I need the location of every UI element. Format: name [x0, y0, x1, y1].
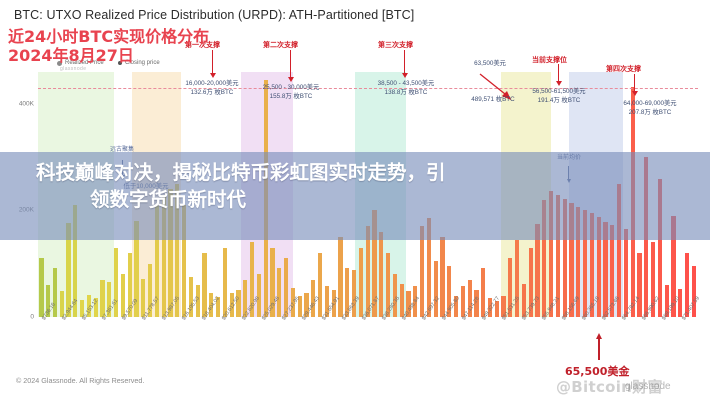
bar — [39, 258, 43, 317]
y-axis-tick-label: 0 — [30, 314, 34, 321]
annotation-arrow-icon — [404, 50, 405, 74]
overlay-headline-line1: 近24小时BTC实现价格分布 — [8, 27, 209, 46]
annotation-body: 64,000-69,000美元207.8万 枚BTC — [594, 100, 706, 117]
annotation-arrow-icon — [290, 50, 291, 78]
annotation-amount: 155.8万 枚BTC — [230, 93, 352, 102]
bar — [338, 237, 342, 317]
overlay-headline: 近24小时BTC实现价格分布 2024年8月27日 — [8, 28, 209, 66]
annotation-amount: 207.8万 枚BTC — [594, 109, 706, 118]
bar — [202, 253, 206, 317]
bar — [223, 248, 227, 317]
bar — [481, 268, 485, 317]
arrow-bottom-note — [598, 338, 600, 360]
annotation-heading: 第三次支撑 — [378, 40, 413, 50]
watermark-right: glassnode — [625, 381, 671, 392]
callout-coins-489571: 489,571 枚BTC — [455, 96, 531, 105]
bar — [440, 237, 444, 317]
annotation-range: 64,000-69,000美元 — [594, 100, 706, 109]
chart-root: BTC: UTXO Realized Price Distribution (U… — [0, 0, 710, 400]
overlay-banner-text: 科技巅峰对决，揭秘比特币彩虹图实时走势，引 领数字货币新时代 — [0, 160, 710, 214]
copyright-text: © 2024 Glassnode. All Rights Reserved. — [16, 376, 144, 385]
bar — [400, 284, 404, 317]
overlay-headline-line2: 2024年8月27日 — [8, 46, 134, 65]
annotation-arrow-icon — [634, 74, 635, 92]
bar — [379, 232, 383, 317]
callout-price-63500: 63,500美元 — [455, 60, 525, 69]
bar — [277, 268, 281, 317]
annotation-arrow-icon — [558, 64, 559, 82]
bar — [624, 229, 628, 317]
bar — [678, 289, 682, 317]
banner-line-1: 科技巅峰对决，揭秘比特币彩虹图实时走势，引 — [36, 161, 446, 184]
bar — [318, 253, 322, 317]
annotation-range: 38,500 - 43,500美元 — [345, 80, 467, 89]
bar — [366, 226, 370, 317]
banner-line-2: 领数字货币新时代 — [36, 187, 674, 214]
annotation-heading: 第二次支撑 — [263, 40, 298, 50]
annotation-body: 38,500 - 43,500美元138.8万 枚BTC — [345, 80, 467, 97]
bar — [637, 253, 641, 317]
page-title: BTC: UTXO Realized Price Distribution (U… — [14, 8, 414, 22]
annotation-amount: 138.8万 枚BTC — [345, 89, 467, 98]
y-axis-tick-label: 400K — [19, 100, 34, 107]
annotation-heading: 当前支撑位 — [532, 55, 567, 65]
annotation-body: 25,500 - 30,000美元155.8万 枚BTC — [230, 84, 352, 101]
bar — [359, 248, 363, 317]
annotation-range: 25,500 - 30,000美元 — [230, 84, 352, 93]
annotation-heading: 第四次支撑 — [606, 64, 641, 74]
bar — [420, 226, 424, 317]
annotation-arrow-icon — [212, 50, 213, 74]
